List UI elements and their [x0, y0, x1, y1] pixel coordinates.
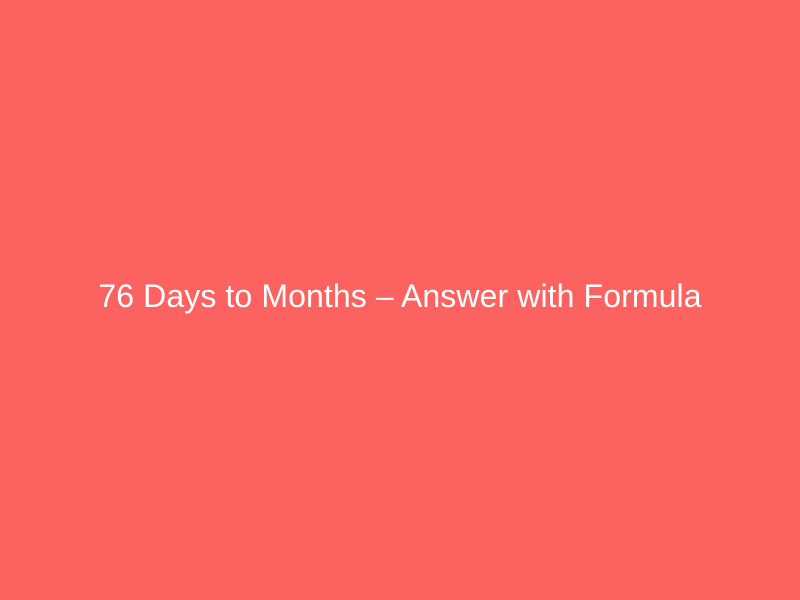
preview-card: 76 Days to Months – Answer with Formula	[0, 0, 800, 600]
title-block: 76 Days to Months – Answer with Formula	[0, 274, 800, 318]
page-title: 76 Days to Months – Answer with Formula	[40, 274, 760, 318]
